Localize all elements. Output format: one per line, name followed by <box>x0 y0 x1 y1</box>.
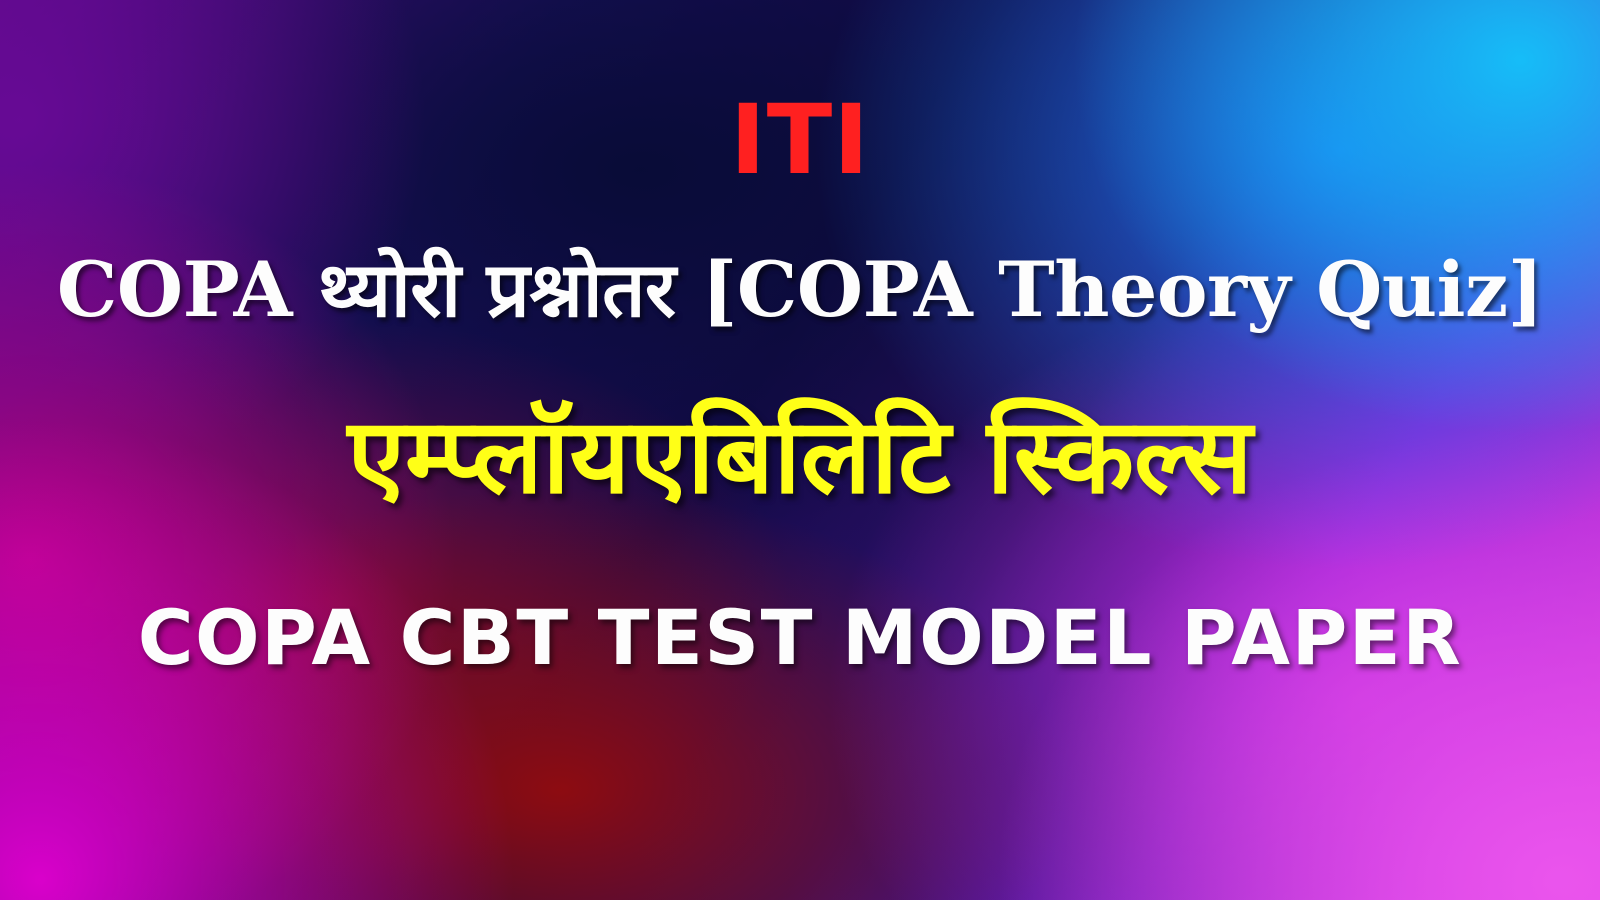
subject-title: एम्प्लॉयएबिलिटि स्किल्स <box>0 404 1600 508</box>
footer-title: COPA CBT TEST MODEL PAPER <box>0 600 1600 676</box>
brand-title: ITI <box>0 92 1600 188</box>
poster-banner: ITI COPA थ्योरी प्रश्नोतर [COPA Theory Q… <box>0 0 1600 900</box>
headline-text: COPA थ्योरी प्रश्नोतर [COPA Theory Quiz] <box>0 252 1600 328</box>
